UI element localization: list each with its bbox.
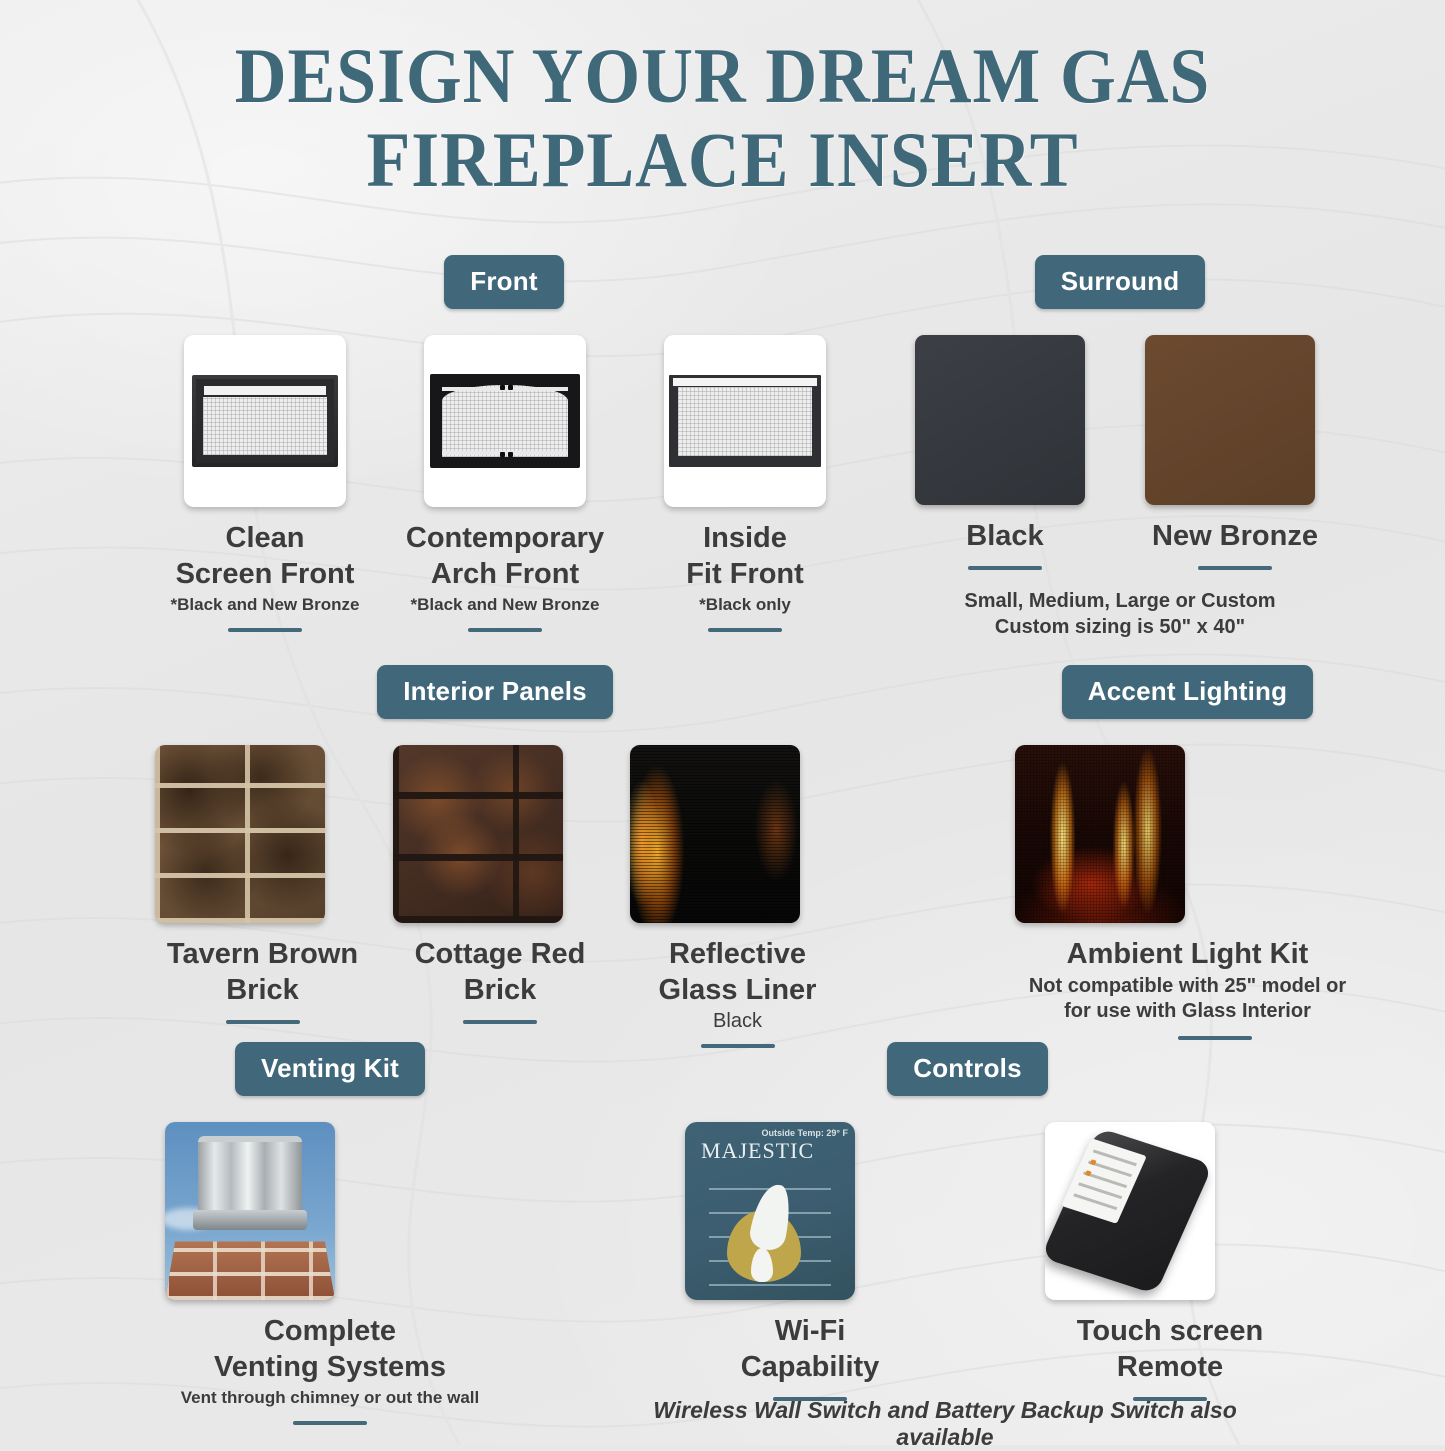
option-card-cottage-red-brick[interactable]: Cottage Red Brick [393, 745, 608, 1048]
black-swatch [915, 335, 1085, 505]
option-card-inside-fit-front[interactable]: Inside Fit Front *Black only [645, 335, 845, 632]
option-card-tavern-brown-brick[interactable]: Tavern Brown Brick [155, 745, 370, 1048]
section-badge-interior-panels[interactable]: Interior Panels [377, 665, 613, 719]
card-divider [1198, 566, 1272, 570]
infographic-page: DESIGN YOUR DREAM GAS FIREPLACE INSERT F… [0, 0, 1445, 1445]
option-title: Black [915, 518, 1095, 554]
card-divider [293, 1421, 367, 1425]
option-title: Reflective Glass Liner [630, 936, 845, 1008]
wifi-outside-temp-label: Outside Temp: 29° F [762, 1128, 848, 1138]
option-title: Complete Venting Systems [165, 1313, 495, 1385]
page-title-line-2: FIREPLACE INSERT [58, 118, 1387, 202]
card-divider [228, 628, 302, 632]
section-badge-venting-kit[interactable]: Venting Kit [235, 1042, 425, 1096]
controls-footer-note: Wireless Wall Switch and Battery Backup … [615, 1397, 1275, 1451]
clean-screen-front-thumbnail [184, 335, 346, 507]
page-title: DESIGN YOUR DREAM GAS FIREPLACE INSERT [0, 0, 1445, 202]
ambient-light-kit-thumbnail [1015, 745, 1185, 923]
option-title: Wi-Fi Capability [685, 1313, 935, 1385]
section-badge-controls[interactable]: Controls [887, 1042, 1047, 1096]
card-divider [463, 1020, 537, 1024]
option-card-surround-black[interactable]: Black [915, 335, 1095, 570]
option-subtitle: Not compatible with 25" model or for use… [1015, 974, 1360, 1024]
option-subtitle: Black [630, 1010, 845, 1032]
cottage-red-brick-thumbnail [393, 745, 563, 923]
section-badge-surround[interactable]: Surround [1035, 255, 1206, 309]
new-bronze-swatch [1145, 335, 1315, 505]
option-subtitle: *Black and New Bronze [390, 594, 620, 616]
option-card-venting-systems[interactable]: Complete Venting Systems Vent through ch… [165, 1122, 495, 1425]
option-subtitle: *Black and New Bronze [165, 594, 365, 616]
option-title: New Bronze [1145, 518, 1325, 554]
contemporary-arch-front-thumbnail [424, 335, 586, 507]
section-venting-kit: Venting Kit Complete Venting Systems Ven… [165, 1042, 495, 1425]
option-subtitle: *Black only [645, 594, 845, 616]
option-card-ambient-light-kit[interactable]: Ambient Light Kit Not compatible with 25… [960, 745, 1360, 1040]
surround-caption: Small, Medium, Large or Custom Custom si… [915, 588, 1325, 640]
option-card-wifi-capability[interactable]: Outside Temp: 29° F MAJESTIC Wi-Fi Capab… [685, 1122, 935, 1401]
option-subtitle: Vent through chimney or out the wall [165, 1387, 495, 1409]
option-title: Contemporary Arch Front [390, 520, 620, 592]
card-divider [968, 566, 1042, 570]
option-card-contemporary-arch-front[interactable]: Contemporary Arch Front *Black and New B… [390, 335, 620, 632]
venting-system-thumbnail [165, 1122, 335, 1300]
wifi-brand-label: MAJESTIC [701, 1138, 814, 1164]
option-title: Tavern Brown Brick [155, 936, 370, 1008]
option-card-surround-new-bronze[interactable]: New Bronze [1145, 335, 1325, 570]
option-card-reflective-glass-liner[interactable]: Reflective Glass Liner Black [630, 745, 845, 1048]
card-divider [708, 628, 782, 632]
option-card-touch-screen-remote[interactable]: Touch screen Remote [1045, 1122, 1295, 1401]
card-divider [468, 628, 542, 632]
wifi-thermostat-thumbnail: Outside Temp: 29° F MAJESTIC [685, 1122, 855, 1300]
card-divider [226, 1020, 300, 1024]
page-title-line-1: DESIGN YOUR DREAM GAS [58, 34, 1387, 118]
section-surround: Surround Black New Bronze Small, Medium,… [915, 255, 1325, 640]
section-interior-panels: Interior Panels Tavern Brown Brick Cotta… [155, 665, 845, 1048]
section-controls: Controls Outside Temp: 29° F MAJESTIC Wi… [660, 1042, 1320, 1401]
inside-fit-front-thumbnail [664, 335, 826, 507]
option-title: Clean Screen Front [165, 520, 365, 592]
tavern-brown-brick-thumbnail [155, 745, 325, 923]
reflective-glass-liner-thumbnail [630, 745, 800, 923]
option-title: Ambient Light Kit [1015, 936, 1360, 972]
option-title: Touch screen Remote [1045, 1313, 1295, 1385]
option-card-clean-screen-front[interactable]: Clean Screen Front *Black and New Bronze [165, 335, 365, 632]
section-badge-front[interactable]: Front [444, 255, 563, 309]
section-badge-accent-lighting[interactable]: Accent Lighting [1062, 665, 1313, 719]
option-title: Inside Fit Front [645, 520, 845, 592]
option-title: Cottage Red Brick [393, 936, 608, 1008]
card-divider [1178, 1036, 1252, 1040]
touch-screen-remote-thumbnail [1045, 1122, 1215, 1300]
section-accent-lighting: Accent Lighting Ambient Light Kit Not co… [960, 665, 1360, 1040]
section-front: Front Clean Screen Front *Black and New … [165, 255, 845, 632]
